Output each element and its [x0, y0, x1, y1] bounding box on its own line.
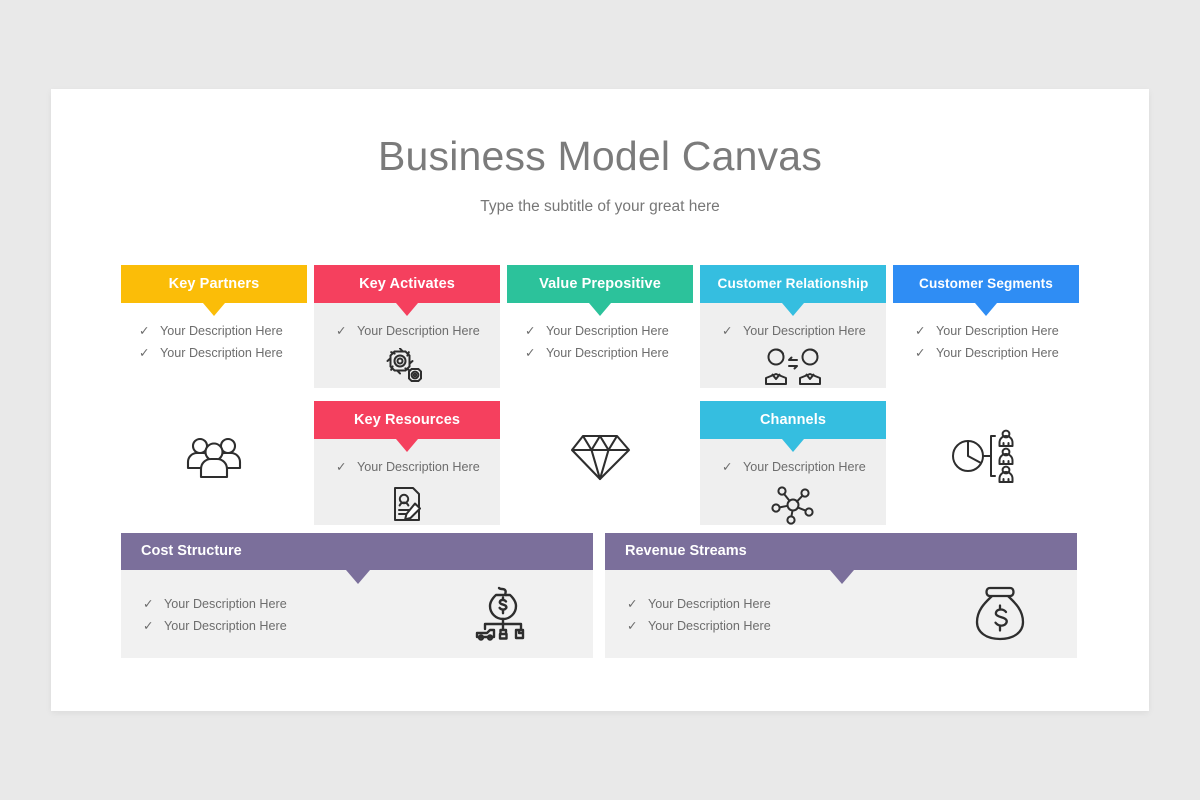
list-item-label: Your Description Here: [357, 460, 480, 474]
slide-canvas: Business Model Canvas Type the subtitle …: [51, 89, 1149, 711]
header-notch: [396, 303, 418, 316]
panel-value-prepositive[interactable]: Value Prepositive ✓ Your Description Her…: [507, 265, 693, 525]
header-notch: [782, 303, 804, 316]
panel-header-revenue-streams[interactable]: Revenue Streams: [605, 533, 1077, 570]
bullet-list: ✓ Your Description Here ✓ Your Descripti…: [525, 320, 685, 364]
bullet-list: ✓ Your Description Here ✓ Your Descripti…: [139, 320, 299, 364]
list-item: ✓ Your Description Here: [139, 320, 299, 342]
list-item-label: Your Description Here: [160, 324, 283, 338]
list-item: ✓ Your Description Here: [627, 615, 867, 637]
check-icon: ✓: [525, 342, 535, 364]
check-icon: ✓: [336, 456, 346, 478]
money-bag-icon: [965, 583, 1035, 643]
list-item: ✓ Your Description Here: [139, 342, 299, 364]
network-hub-icon: [700, 485, 886, 525]
check-icon: ✓: [915, 320, 925, 342]
list-item-label: Your Description Here: [357, 324, 480, 338]
header-notch: [589, 303, 611, 316]
panel-key-resources[interactable]: Key Resources ✓ Your Description Here: [314, 401, 500, 525]
header-notch: [782, 439, 804, 452]
list-item-label: Your Description Here: [743, 324, 866, 338]
people-group-icon: [121, 425, 307, 489]
list-item-label: Your Description Here: [164, 597, 287, 611]
resume-document-icon: [314, 483, 500, 525]
check-icon: ✓: [139, 342, 149, 364]
bullet-list: ✓ Your Description Here ✓ Your Descripti…: [627, 593, 867, 637]
panel-header-key-resources[interactable]: Key Resources: [314, 401, 500, 439]
list-item: ✓ Your Description Here: [143, 615, 383, 637]
check-icon: ✓: [915, 342, 925, 364]
bullet-list: ✓ Your Description Here: [336, 320, 496, 342]
check-icon: ✓: [143, 615, 153, 637]
panel-customer-relationship[interactable]: Customer Relationship ✓ Your Description…: [700, 265, 886, 388]
check-icon: ✓: [722, 320, 732, 342]
bullet-list: ✓ Your Description Here: [336, 456, 496, 478]
list-item: ✓ Your Description Here: [336, 456, 496, 478]
check-icon: ✓: [525, 320, 535, 342]
check-icon: ✓: [627, 593, 637, 615]
header-notch: [396, 439, 418, 452]
panel-header-customer-relationship[interactable]: Customer Relationship: [700, 265, 886, 303]
panel-channels[interactable]: Channels ✓ Your Description Here: [700, 401, 886, 525]
panel-customer-segments[interactable]: Customer Segments ✓ Your Description Her…: [893, 265, 1079, 525]
check-icon: ✓: [336, 320, 346, 342]
page-subtitle: Type the subtitle of your great here: [51, 198, 1149, 216]
list-item: ✓ Your Description Here: [722, 320, 882, 342]
gears-icon: [314, 348, 500, 386]
list-item: ✓ Your Description Here: [525, 342, 685, 364]
bullet-list: ✓ Your Description Here: [722, 320, 882, 342]
panel-header-customer-segments[interactable]: Customer Segments: [893, 265, 1079, 303]
list-item: ✓ Your Description Here: [627, 593, 867, 615]
bullet-list: ✓ Your Description Here ✓ Your Descripti…: [143, 593, 383, 637]
panel-header-channels[interactable]: Channels: [700, 401, 886, 439]
pie-segments-icon: [893, 423, 1079, 489]
list-item-label: Your Description Here: [546, 324, 669, 338]
bullet-list: ✓ Your Description Here ✓ Your Descripti…: [915, 320, 1075, 364]
panel-header-value-prepositive[interactable]: Value Prepositive: [507, 265, 693, 303]
header-notch: [975, 303, 997, 316]
list-item-label: Your Description Here: [648, 619, 771, 633]
header-notch: [346, 570, 370, 584]
list-item: ✓ Your Description Here: [722, 456, 882, 478]
check-icon: ✓: [627, 615, 637, 637]
list-item: ✓ Your Description Here: [143, 593, 383, 615]
panel-header-cost-structure[interactable]: Cost Structure: [121, 533, 593, 570]
diamond-icon: [507, 425, 693, 489]
panel-header-key-partners[interactable]: Key Partners: [121, 265, 307, 303]
list-item-label: Your Description Here: [164, 619, 287, 633]
list-item: ✓ Your Description Here: [525, 320, 685, 342]
cost-distribution-icon: [469, 581, 539, 643]
panel-key-partners[interactable]: Key Partners ✓ Your Description Here ✓ Y…: [121, 265, 307, 525]
list-item-label: Your Description Here: [160, 346, 283, 360]
check-icon: ✓: [143, 593, 153, 615]
page-title: Business Model Canvas: [51, 133, 1149, 180]
list-item: ✓ Your Description Here: [336, 320, 496, 342]
list-item-label: Your Description Here: [936, 324, 1059, 338]
bullet-list: ✓ Your Description Here: [722, 456, 882, 478]
people-exchange-icon: [700, 345, 886, 387]
header-notch: [830, 570, 854, 584]
check-icon: ✓: [722, 456, 732, 478]
list-item-label: Your Description Here: [546, 346, 669, 360]
list-item-label: Your Description Here: [743, 460, 866, 474]
check-icon: ✓: [139, 320, 149, 342]
panel-header-key-activates[interactable]: Key Activates: [314, 265, 500, 303]
list-item: ✓ Your Description Here: [915, 320, 1075, 342]
header-notch: [203, 303, 225, 316]
list-item: ✓ Your Description Here: [915, 342, 1075, 364]
list-item-label: Your Description Here: [648, 597, 771, 611]
panel-revenue-streams[interactable]: Revenue Streams ✓ Your Description Here …: [605, 533, 1077, 658]
list-item-label: Your Description Here: [936, 346, 1059, 360]
panel-key-activates[interactable]: Key Activates ✓ Your Description Here: [314, 265, 500, 388]
panel-cost-structure[interactable]: Cost Structure ✓ Your Description Here ✓…: [121, 533, 593, 658]
